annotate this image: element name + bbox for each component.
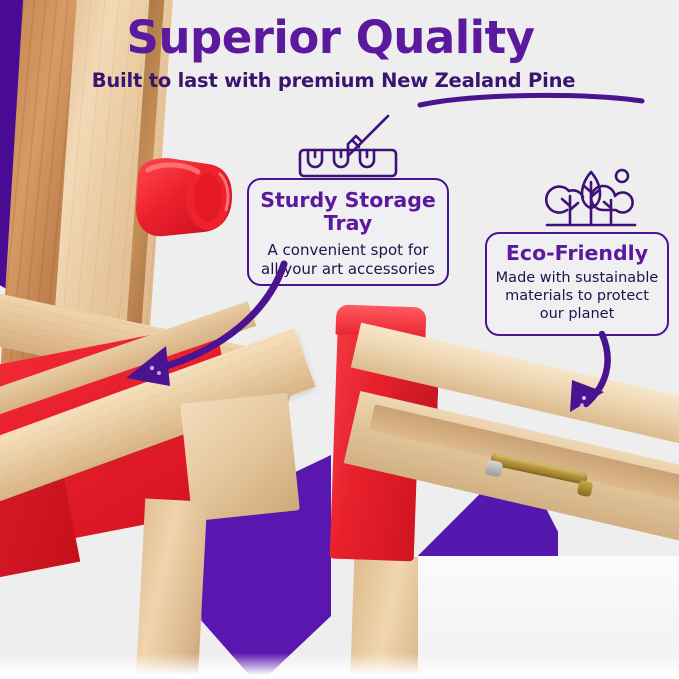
callout-title: Eco-Friendly xyxy=(495,242,659,265)
page-title: Superior Quality xyxy=(0,14,679,61)
infographic-canvas: Superior Quality Built to last with prem… xyxy=(0,0,679,679)
subtitle-underline-swoosh xyxy=(416,92,646,108)
wooden-front-leg xyxy=(135,499,207,679)
callout-body: A convenient spot for all your art acces… xyxy=(259,241,437,279)
callout-title: Sturdy Storage Tray xyxy=(259,189,437,235)
trees-icon xyxy=(545,164,637,234)
callout-eco-friendly[interactable]: Eco-Friendly Made with sustainable mater… xyxy=(485,232,669,336)
callout-body: Made with sustainable materials to prote… xyxy=(495,269,659,323)
paint-pots-and-brush-icon xyxy=(296,112,400,178)
page-subtitle: Built to last with premium New Zealand P… xyxy=(0,69,679,92)
photo-bottom-fade xyxy=(0,653,679,679)
callout-sturdy-storage-tray[interactable]: Sturdy Storage Tray A convenient spot fo… xyxy=(247,178,449,286)
hinge-cap-left xyxy=(485,460,504,478)
red-plastic-knob xyxy=(124,152,242,248)
